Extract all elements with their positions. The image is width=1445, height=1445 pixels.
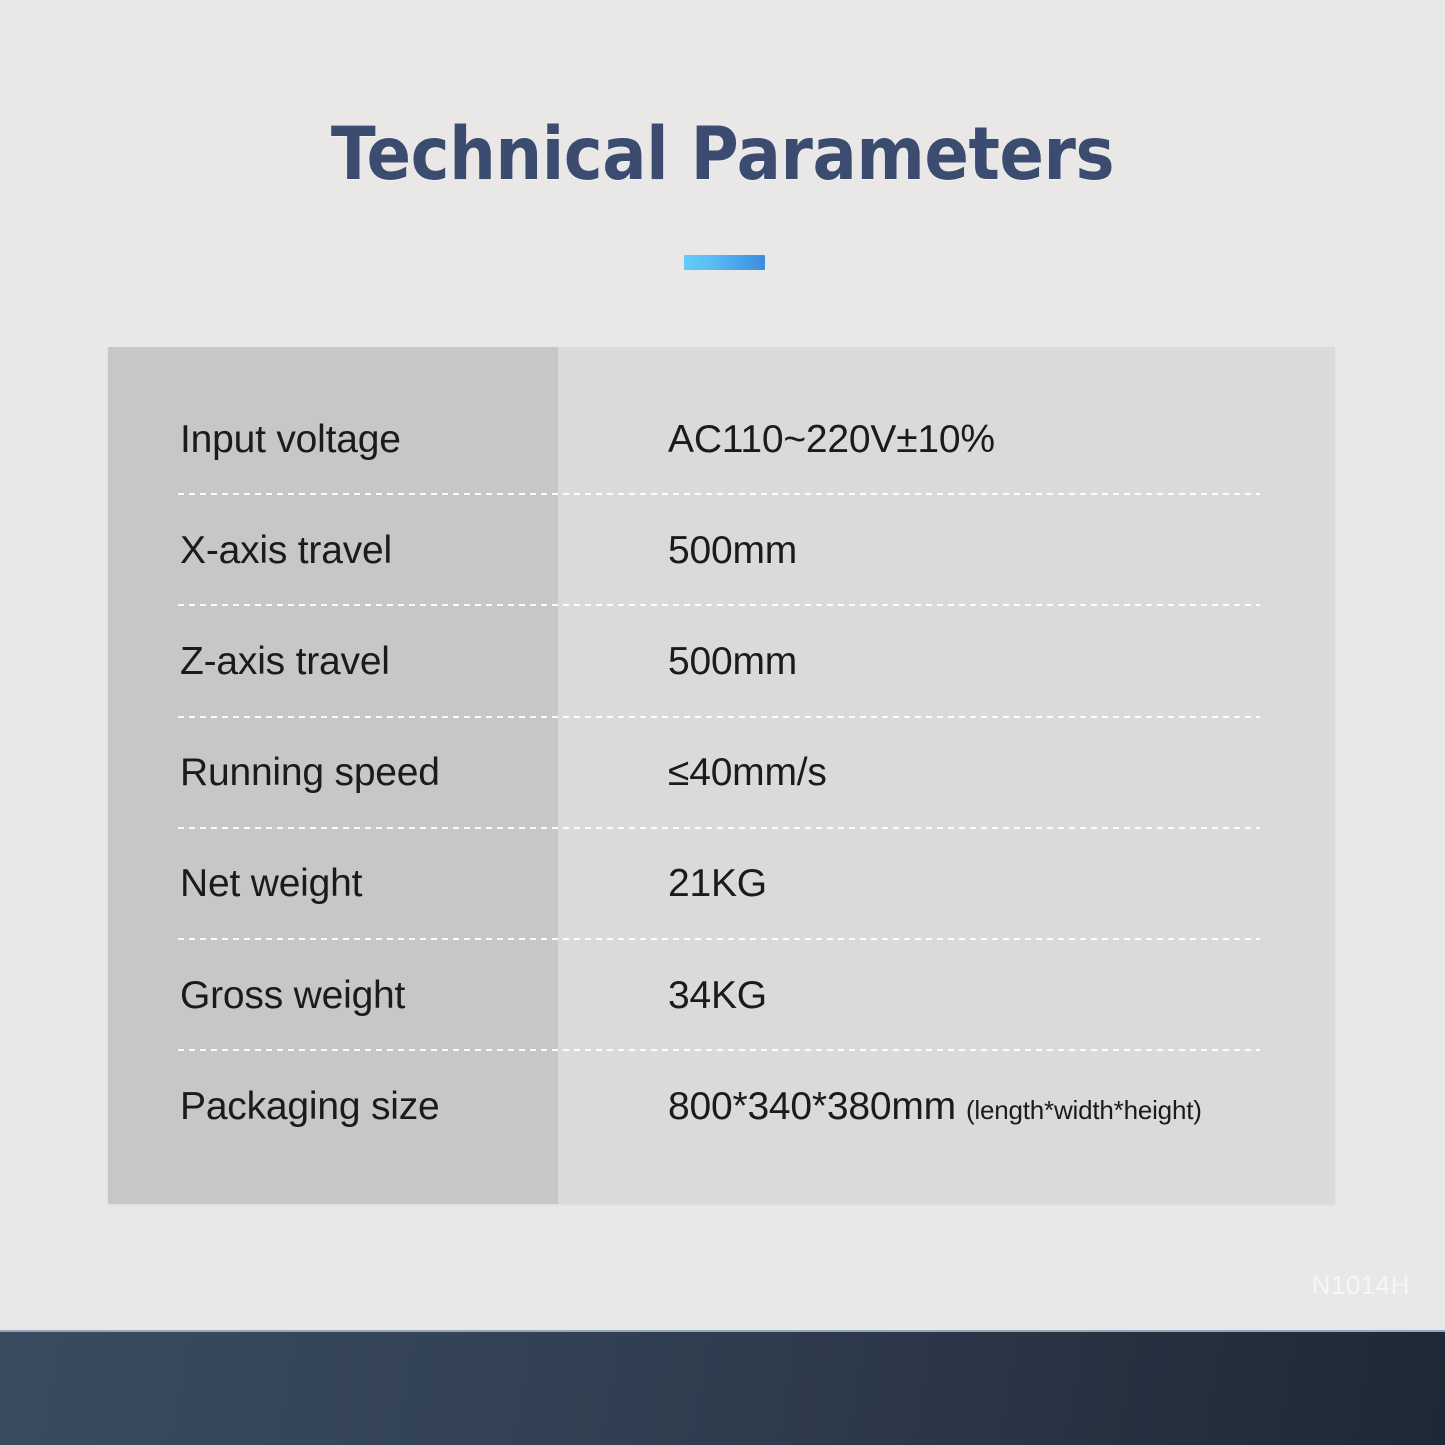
spec-label: Gross weight: [108, 974, 558, 1018]
table-row: Gross weight34KG: [108, 940, 1335, 1051]
spec-value: 34KG: [558, 974, 1335, 1018]
spec-value-main: 21KG: [668, 862, 767, 905]
spec-value-main: AC110~220V±10%: [668, 418, 995, 461]
spec-value: 500mm: [558, 640, 1335, 684]
table-row: X-axis travel500mm: [108, 495, 1335, 606]
spec-label: Running speed: [108, 751, 558, 795]
title-accent-bar: [684, 255, 765, 270]
spec-value: 500mm: [558, 529, 1335, 573]
table-row: Packaging size800*340*380mm(length*width…: [108, 1051, 1335, 1162]
table-body: Input voltageAC110~220V±10%X-axis travel…: [108, 347, 1335, 1204]
technical-parameters-table: Input voltageAC110~220V±10%X-axis travel…: [108, 347, 1335, 1204]
spec-value: ≤40mm/s: [558, 751, 1335, 795]
spec-value-main: 500mm: [668, 640, 797, 683]
spec-label: Packaging size: [108, 1085, 558, 1129]
spec-label: Input voltage: [108, 418, 558, 462]
watermark-label: N1014H: [1312, 1270, 1410, 1301]
title-block: Technical Parameters: [0, 118, 1445, 191]
spec-value-main: ≤40mm/s: [668, 751, 827, 794]
spec-value: 21KG: [558, 862, 1335, 906]
spec-value-main: 34KG: [668, 974, 767, 1017]
spec-value-main: 500mm: [668, 529, 797, 572]
spec-label: Z-axis travel: [108, 640, 558, 684]
table-row: Input voltageAC110~220V±10%: [108, 384, 1335, 495]
spec-value: AC110~220V±10%: [558, 418, 1335, 462]
spec-label: X-axis travel: [108, 529, 558, 573]
table-row: Z-axis travel500mm: [108, 606, 1335, 717]
page-title: Technical Parameters: [72, 118, 1373, 191]
spec-value-main: 800*340*380mm: [668, 1085, 956, 1128]
spec-value-note: (length*width*height): [966, 1095, 1202, 1125]
spec-label: Net weight: [108, 862, 558, 906]
table-row: Net weight21KG: [108, 829, 1335, 940]
footer-band: [0, 1330, 1445, 1445]
spec-sheet-page: Technical Parameters Input voltageAC110~…: [0, 0, 1445, 1445]
spec-value: 800*340*380mm(length*width*height): [558, 1085, 1335, 1129]
table-row: Running speed≤40mm/s: [108, 718, 1335, 829]
